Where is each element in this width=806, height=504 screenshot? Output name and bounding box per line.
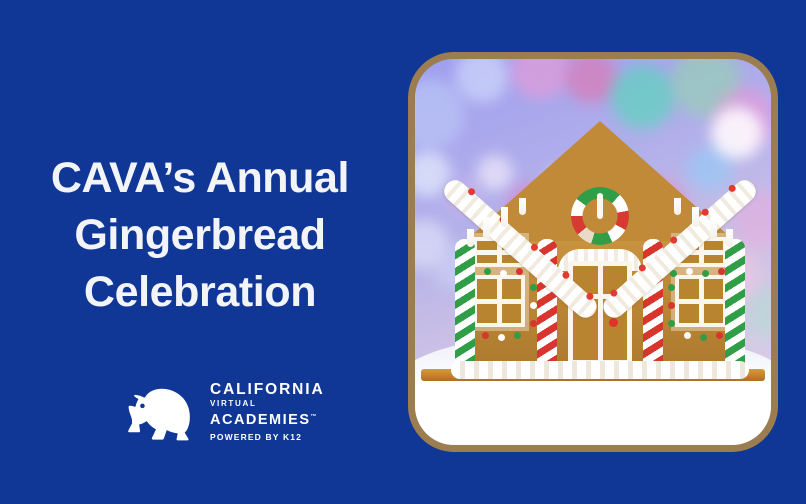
window-lower-left bbox=[473, 275, 525, 327]
gingerbread-house bbox=[461, 121, 739, 371]
polar-bear-logo-icon bbox=[124, 384, 202, 442]
candy-cane-column-right bbox=[725, 239, 745, 371]
icing-baseboard bbox=[451, 361, 749, 379]
logo-line-california: CALIFORNIA bbox=[210, 381, 325, 398]
page-title: CAVA’s Annual Gingerbread Celebration bbox=[10, 150, 390, 321]
candy-cane-column-left bbox=[455, 239, 475, 371]
door-knob-candy bbox=[609, 318, 618, 327]
window-candy-trim bbox=[670, 270, 732, 332]
headline-line-2: Gingerbread bbox=[10, 207, 390, 264]
trademark-symbol: ™ bbox=[311, 414, 317, 420]
logo-line-powered-by: POWERED BY K12 bbox=[210, 430, 325, 445]
logo-academies-text: ACADEMIES bbox=[210, 411, 311, 427]
headline-line-3: Celebration bbox=[10, 264, 390, 321]
logo-line-virtual: VIRTUAL bbox=[210, 398, 325, 409]
text-column: CAVA’s Annual Gingerbread Celebration CA… bbox=[0, 0, 400, 504]
photo-inner bbox=[415, 59, 771, 445]
headline-line-1: CAVA’s Annual bbox=[10, 150, 390, 207]
window-lower-right bbox=[675, 275, 727, 327]
wreath-ribbon bbox=[597, 193, 603, 219]
logo-line-academies: ACADEMIES™ bbox=[210, 409, 325, 429]
gingerbread-house-photo bbox=[408, 52, 778, 452]
door-trim-vertical bbox=[598, 266, 603, 360]
cava-logo: CALIFORNIA VIRTUAL ACADEMIES™ POWERED BY… bbox=[124, 380, 324, 446]
window-candy-trim bbox=[468, 270, 530, 332]
promo-banner: CAVA’s Annual Gingerbread Celebration CA… bbox=[0, 0, 806, 504]
logo-wordmark: CALIFORNIA VIRTUAL ACADEMIES™ POWERED BY… bbox=[210, 381, 325, 446]
